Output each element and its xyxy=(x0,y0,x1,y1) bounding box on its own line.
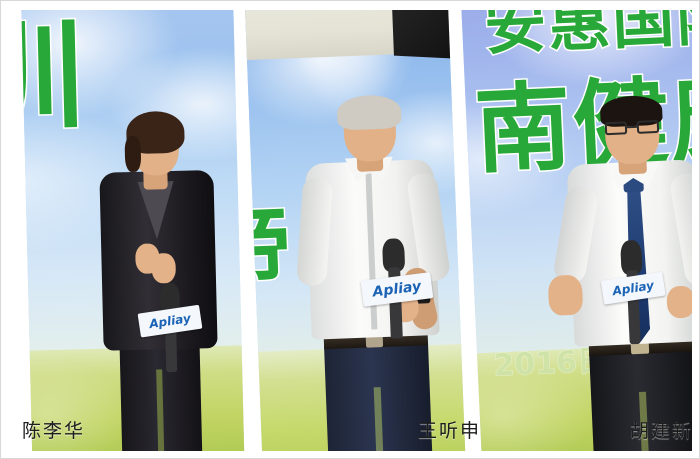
microphone-flag-label: Apliay xyxy=(612,279,655,297)
name-caption-1: 陈李华 xyxy=(22,416,85,443)
name-caption-2: 王听申 xyxy=(418,416,481,443)
photo-panel-1[interactable]: 训 xyxy=(21,10,246,451)
photo-collage: 训 xyxy=(0,0,700,459)
photo-panel-2[interactable]: 帝 xyxy=(244,10,467,451)
ceiling-speaker xyxy=(390,10,466,61)
hand-right xyxy=(151,253,176,284)
panel-2-content: 帝 xyxy=(244,10,467,451)
panel-3-inner: 安惠国际 南健康 期) 月通 2016日—29 胡建新 xyxy=(460,10,692,451)
person-figure xyxy=(75,87,245,451)
photo-panel-3[interactable]: 安惠国际 南健康 期) 月通 2016日—29 胡建新 xyxy=(460,10,692,451)
panel-3-content: 安惠国际 南健康 期) 月通 2016日—29 胡建新 xyxy=(460,10,692,451)
microphone-flag-label: Apliay xyxy=(372,279,422,299)
panel-1-inner: 训 xyxy=(21,10,246,451)
banner-title: 安惠国际 xyxy=(483,10,692,59)
panel-1-content: 训 xyxy=(21,10,246,451)
photo-strip: 训 xyxy=(10,10,692,451)
person-figure xyxy=(532,64,692,451)
panel-2-inner: 帝 xyxy=(244,10,467,451)
hand-left-open xyxy=(548,275,584,317)
glasses-icon xyxy=(605,120,660,135)
name-caption-3: 胡建新 xyxy=(630,416,692,443)
person-figure xyxy=(274,66,467,451)
microphone-flag-label: Apliay xyxy=(149,312,192,330)
hand-right xyxy=(666,285,692,318)
hair-side xyxy=(124,136,141,172)
hair-grey xyxy=(336,94,401,130)
